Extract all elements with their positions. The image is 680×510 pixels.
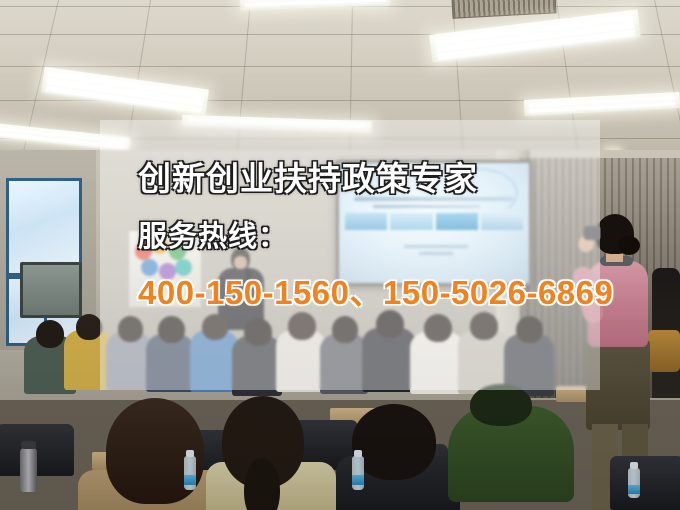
audience-head <box>36 320 64 348</box>
standing-woman-hair-bun <box>618 236 640 255</box>
shoulder-bag <box>648 330 680 372</box>
chair <box>610 456 680 510</box>
air-vent <box>452 0 557 19</box>
overlay-title: 创新创业扶持政策专家 <box>138 162 600 195</box>
ceiling-light <box>524 92 680 116</box>
water-bottle <box>352 456 364 490</box>
foreground-person-head <box>352 404 436 480</box>
photo-banner: 创新创业扶持政策专家 服务热线： 400-150-1560、150-5026-6… <box>0 0 680 510</box>
overlay-phone-numbers: 400-150-1560、150-5026-6869 <box>138 276 600 309</box>
water-bottle <box>628 468 640 498</box>
whiteboard <box>20 262 82 318</box>
thermos <box>20 448 37 492</box>
audience-head <box>76 314 102 340</box>
water-bottle <box>184 456 196 490</box>
overlay-text-block: 创新创业扶持政策专家 服务热线： 400-150-1560、150-5026-6… <box>100 120 600 390</box>
foreground-person-head <box>470 384 532 426</box>
chair <box>0 424 74 476</box>
ceiling-light <box>41 67 209 116</box>
ceiling-light <box>240 0 391 11</box>
overlay-hotline-label: 服务热线： <box>138 223 600 252</box>
